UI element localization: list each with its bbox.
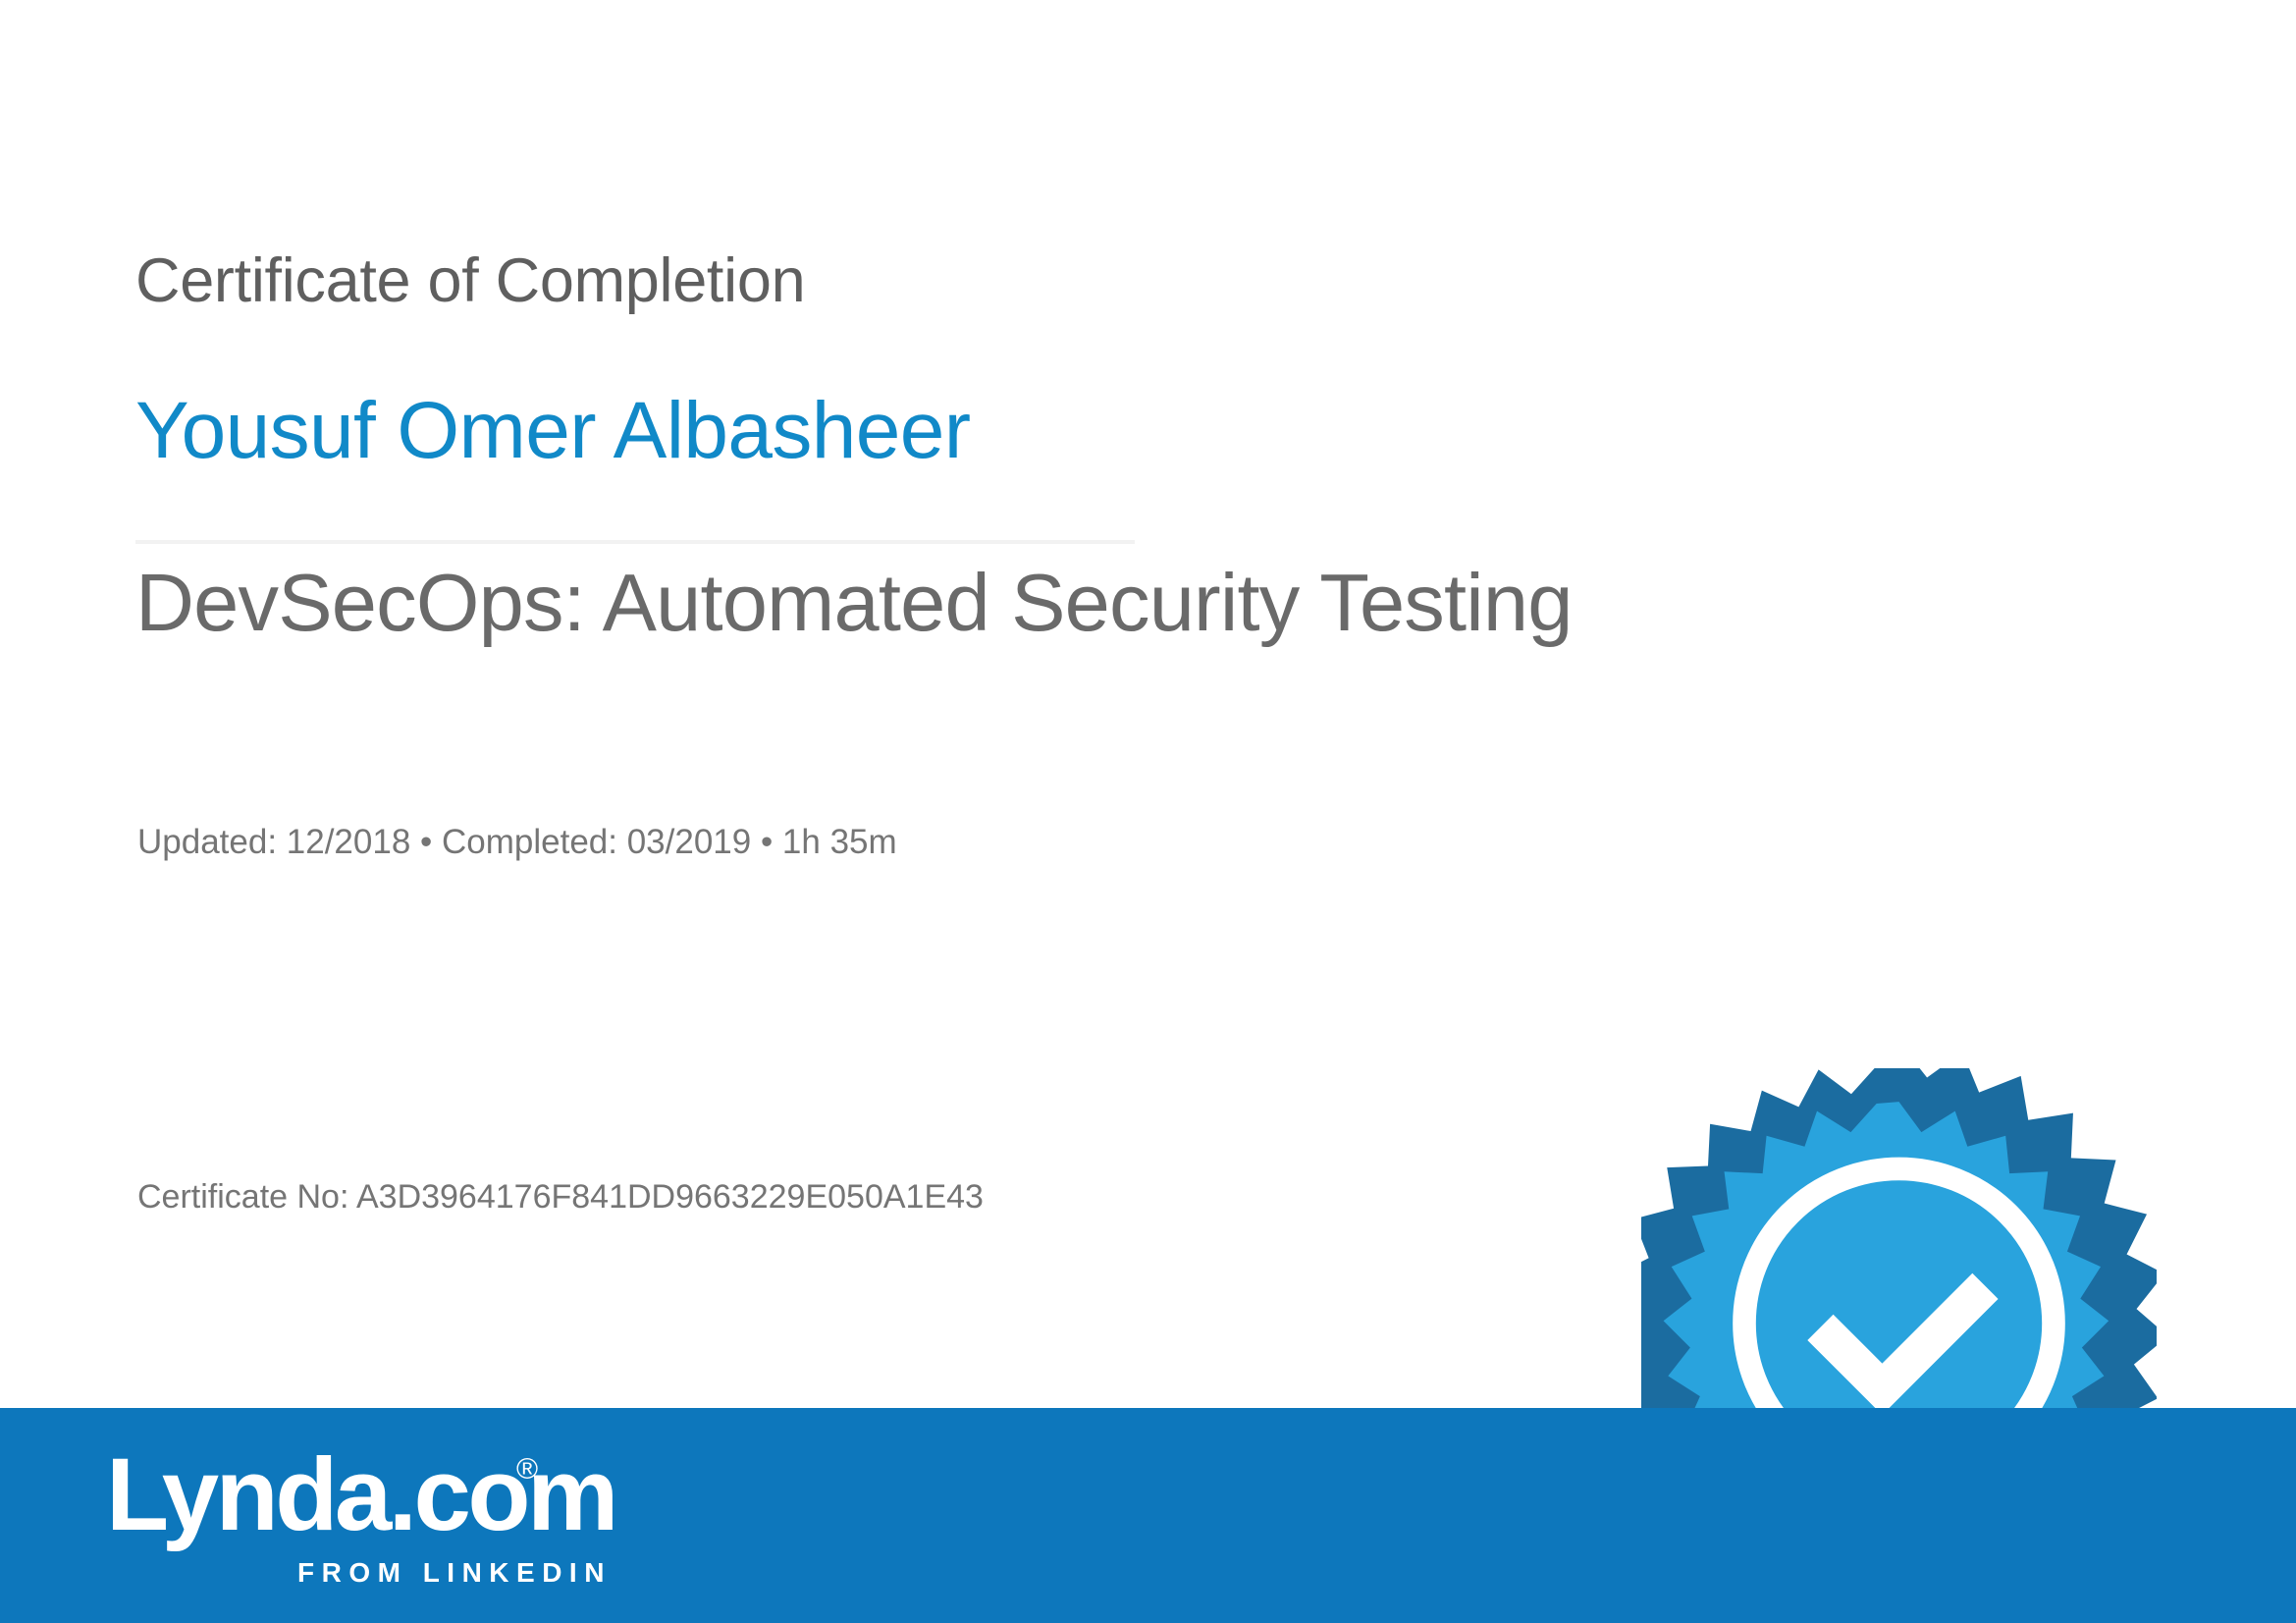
- lynda-logo-wordmark: Lynda.com: [106, 1443, 615, 1546]
- page-title: Certificate of Completion: [135, 250, 805, 312]
- lynda-logo: Lynda.com ® FROM LINKEDIN: [106, 1443, 656, 1591]
- divider: [135, 540, 1135, 544]
- registered-trademark-icon: ®: [516, 1455, 538, 1485]
- lynda-logo-subtitle: FROM LINKEDIN: [297, 1559, 612, 1587]
- certificate-of-completion: Certificate of Completion Yousuf Omer Al…: [0, 0, 2296, 1623]
- footer-bar: Lynda.com ® FROM LINKEDIN: [0, 1408, 2296, 1623]
- certificate-number: Certificate No: A3D3964176F841DD9663229E…: [137, 1180, 984, 1214]
- course-meta-line: Updated: 12/2018 • Completed: 03/2019 • …: [137, 825, 897, 859]
- recipient-name: Yousuf Omer Albasheer: [135, 391, 970, 471]
- course-title: DevSecOps: Automated Security Testing: [135, 562, 1573, 643]
